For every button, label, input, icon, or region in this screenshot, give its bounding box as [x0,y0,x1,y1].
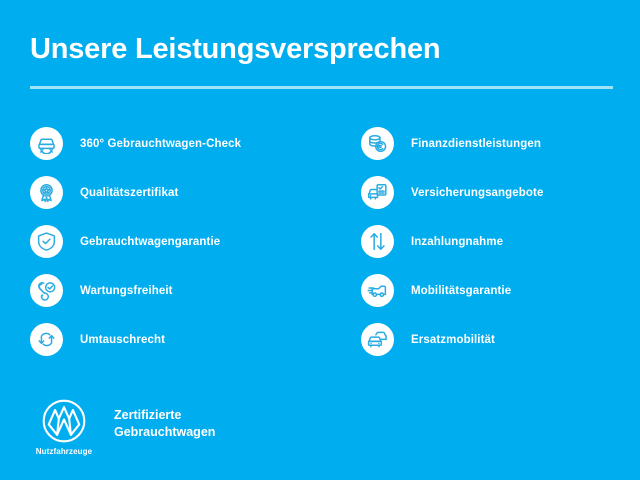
benefit-label: Ersatzmobilität [411,334,495,346]
brand-footer: Nutzfahrzeuge Zertifizierte Gebrauchtwag… [30,398,215,456]
benefit-item-umtauschrecht[interactable]: Umtauschrecht [30,323,330,356]
vw-sublabel: Nutzfahrzeuge [36,447,92,456]
promise-slide: Unsere Leistungsversprechen 360° Gebrauc… [0,0,640,480]
brand-claim: Zertifizierte Gebrauchtwagen [114,407,215,442]
benefit-item-gebrauchtwagengarantie[interactable]: Gebrauchtwagengarantie [30,225,330,258]
benefit-label: Versicherungsangebote [411,187,543,199]
benefit-label: Mobilitätsgarantie [411,285,511,297]
benefit-item-wartungsfreiheit[interactable]: Wartungsfreiheit [30,274,330,307]
benefit-item-qualitaetszertifikat[interactable]: Qualitätszertifikat [30,176,330,209]
up-down-arrows-icon [361,225,394,258]
coins-euro-icon [361,127,394,160]
benefits-right-column: Finanzdienstleistungen Versicherungsange… [361,127,631,372]
benefits-left-column: 360° Gebrauchtwagen-Check Qualitätszerti… [30,127,330,372]
benefit-item-mobilitaetsgarantie[interactable]: Mobilitätsgarantie [361,274,631,307]
vw-logo [41,398,87,444]
van-speed-icon [361,274,394,307]
benefit-label: 360° Gebrauchtwagen-Check [80,138,241,150]
benefit-item-inzahlungnahme[interactable]: Inzahlungnahme [361,225,631,258]
benefit-item-finanzdienstleistungen[interactable]: Finanzdienstleistungen [361,127,631,160]
benefit-item-gebrauchtwagen-check[interactable]: 360° Gebrauchtwagen-Check [30,127,330,160]
benefit-item-ersatzmobilitaet[interactable]: Ersatzmobilität [361,323,631,356]
page-title: Unsere Leistungsversprechen [30,34,440,64]
two-cars-icon [361,323,394,356]
vw-logo-block: Nutzfahrzeuge [30,398,98,456]
benefit-label: Inzahlungnahme [411,236,503,248]
benefit-label: Wartungsfreiheit [80,285,173,297]
benefit-label: Finanzdienstleistungen [411,138,541,150]
shield-check-icon [30,225,63,258]
title-divider [30,86,613,89]
wrench-check-icon [30,274,63,307]
benefit-label: Umtauschrecht [80,334,165,346]
car-check-icon [30,127,63,160]
benefit-item-versicherungsangebote[interactable]: Versicherungsangebote [361,176,631,209]
exchange-arrows-icon [30,323,63,356]
benefit-label: Qualitätszertifikat [80,187,178,199]
car-checklist-icon [361,176,394,209]
award-rosette-icon [30,176,63,209]
benefit-label: Gebrauchtwagengarantie [80,236,220,248]
